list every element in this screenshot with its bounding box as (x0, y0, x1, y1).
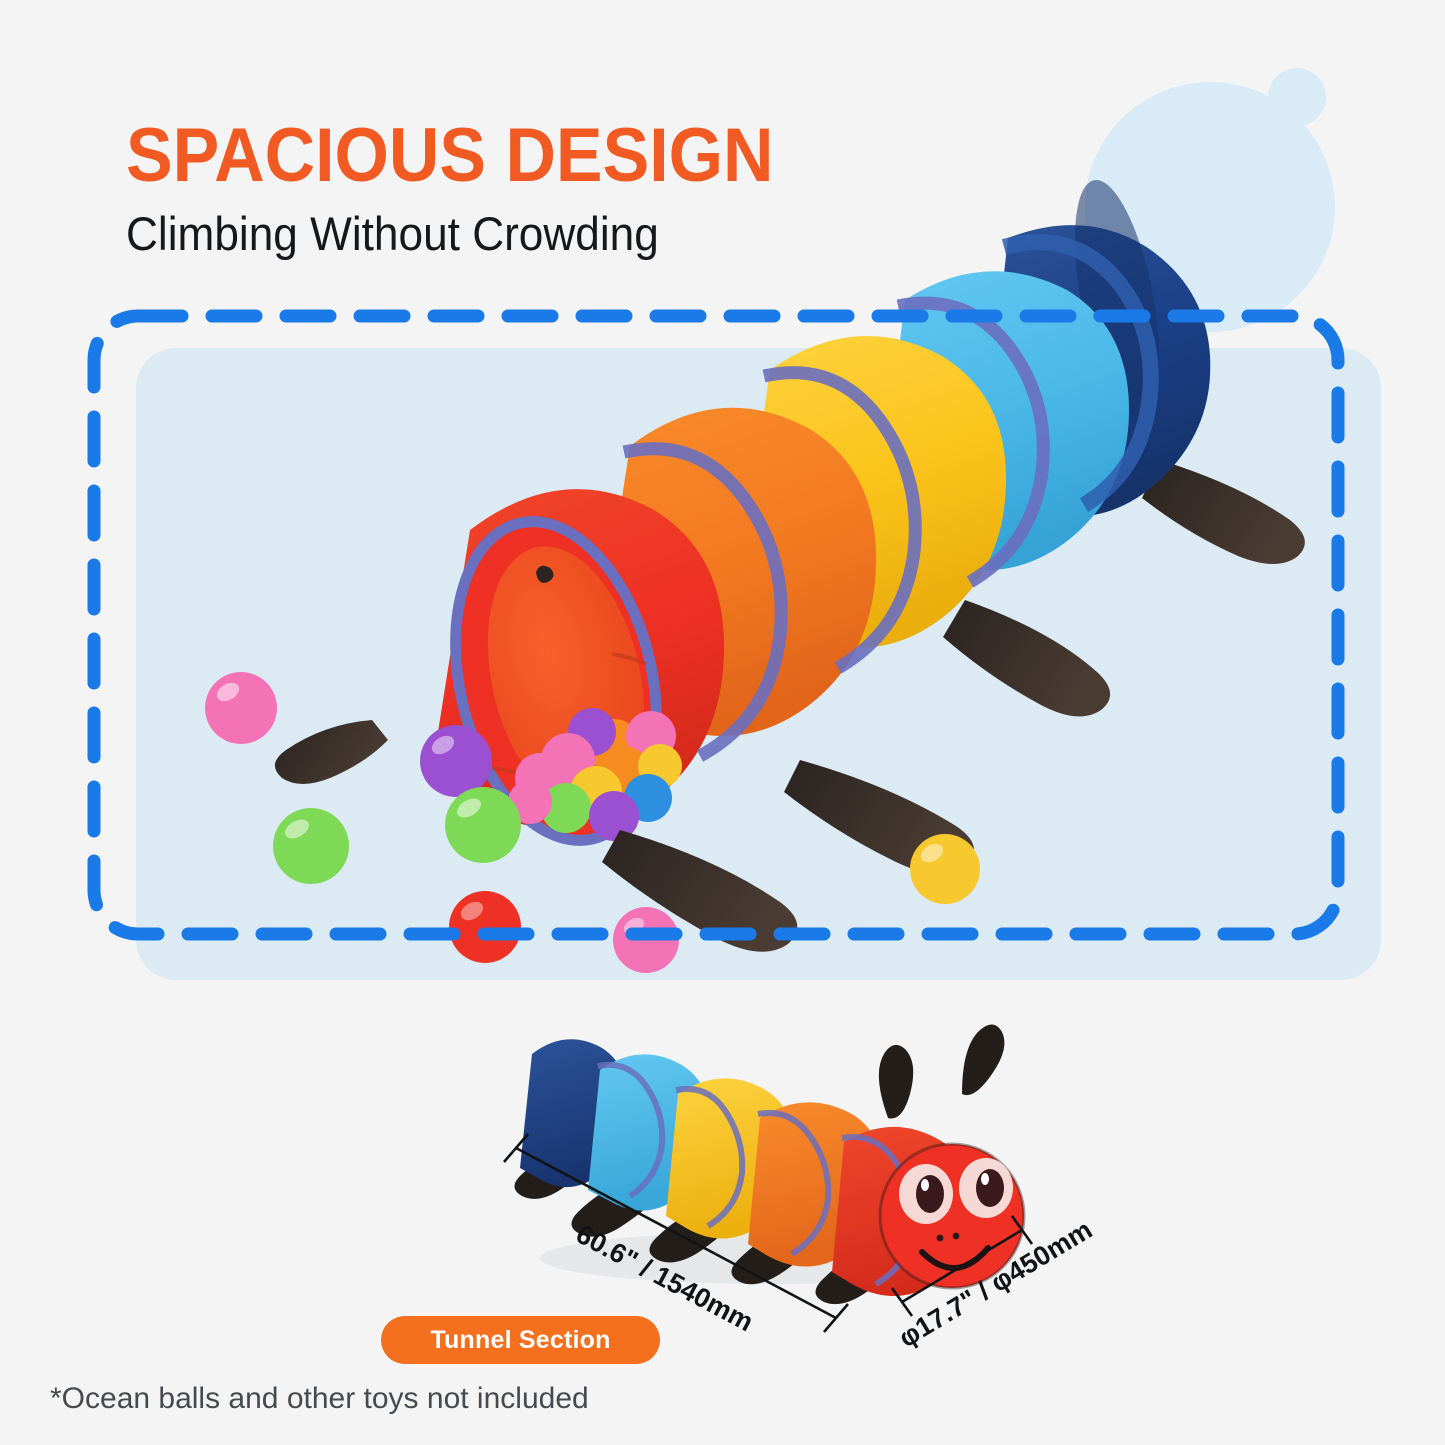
diameter-dimension-label: φ17.7" / φ450mm (894, 1214, 1098, 1353)
tunnel-section-label: Tunnel Section (430, 1326, 610, 1355)
footnote-text: *Ocean balls and other toys not included (50, 1382, 589, 1416)
dimension-annotations: 60.6" / 1540mm φ17.7" / φ450mm (470, 1080, 1170, 1420)
product-feature-page: SPACIOUS DESIGN Climbing Without Crowdin… (0, 0, 1445, 1445)
dashed-highlight-frame (84, 306, 1348, 944)
tunnel-section-badge: Tunnel Section (381, 1316, 660, 1364)
length-dimension (504, 1134, 848, 1332)
